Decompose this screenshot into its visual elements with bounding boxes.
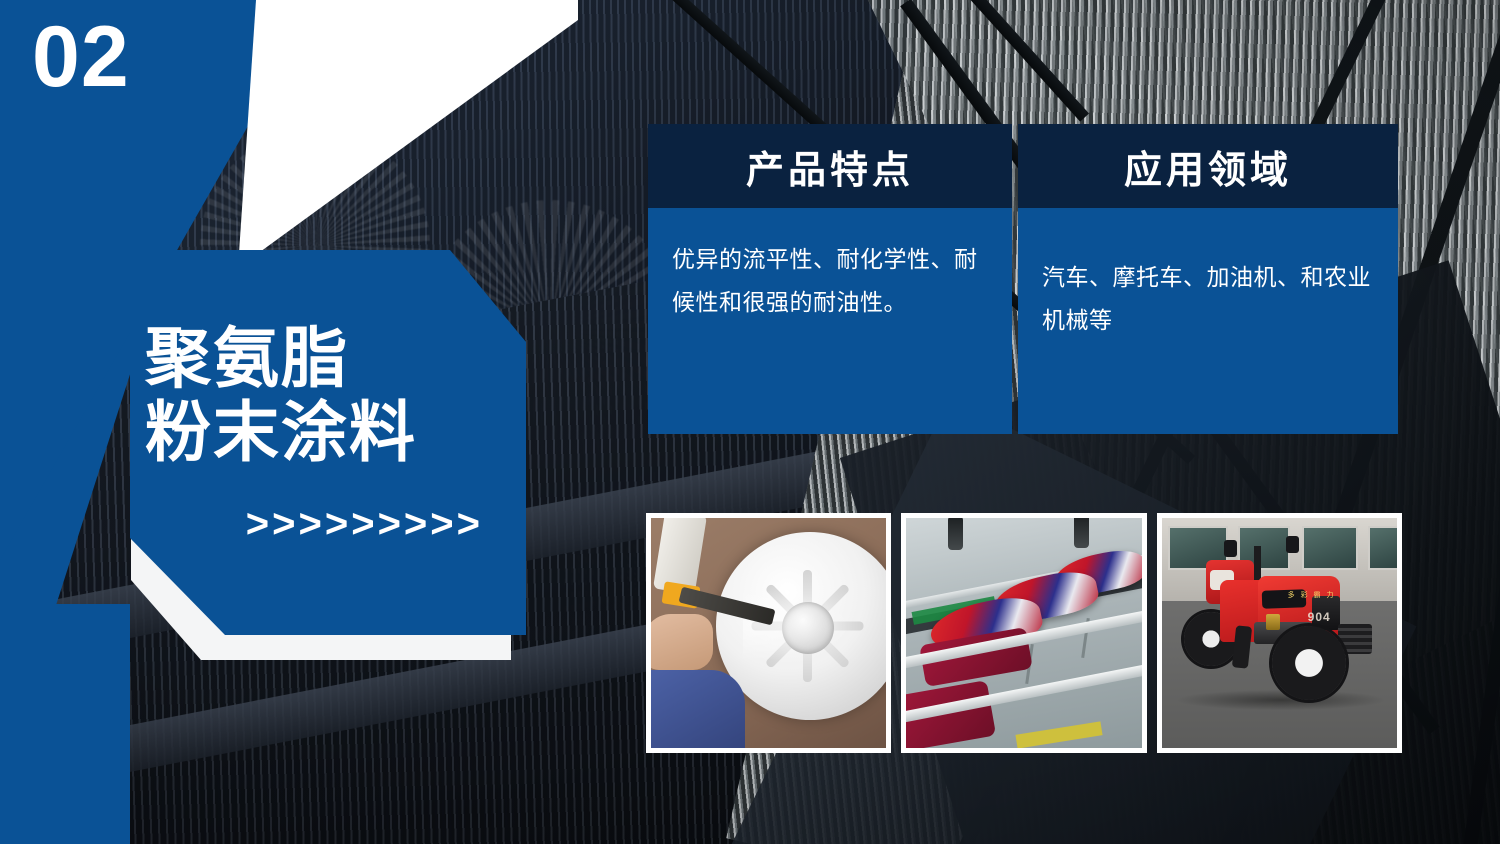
photo-coating-line-fuel-tanks <box>901 513 1146 753</box>
page-title: 聚氨脂 粉末涂料 <box>145 322 485 470</box>
card-features-body: 优异的流平性、耐化学性、耐候性和很强的耐油性。 <box>648 208 1012 434</box>
photo-1-content <box>651 518 886 748</box>
card-application-areas: 应用领域 汽车、摩托车、加油机、和农业机械等 <box>1018 124 1398 434</box>
photo-2-spray-nozzle <box>1074 518 1089 548</box>
photo-3-mirror <box>1224 540 1237 557</box>
photo-3-brass-fitting <box>1266 614 1280 630</box>
card-applications-text: 汽车、摩托车、加油机、和农业机械等 <box>1018 208 1398 341</box>
slide-canvas: 02 聚氨脂 粉末涂料 >>>>>>>>> 产品特点 优异的流平性、耐化学性、耐… <box>0 0 1500 844</box>
card-features-text: 优异的流平性、耐化学性、耐候性和很强的耐油性。 <box>648 208 1012 323</box>
photo-3-content: 多 彩 霸 力 904 <box>1162 518 1397 748</box>
section-number: 02 <box>32 14 130 100</box>
card-applications-body: 汽车、摩托车、加油机、和农业机械等 <box>1018 208 1398 434</box>
photo-3-ground-shadow <box>1178 690 1384 710</box>
photo-red-tractor: 多 彩 霸 力 904 <box>1157 513 1402 753</box>
photo-powder-coating-wheel <box>646 513 891 753</box>
card-product-features: 产品特点 优异的流平性、耐化学性、耐候性和很强的耐油性。 <box>648 124 1012 434</box>
photo-3-model-number: 904 <box>1308 610 1331 624</box>
title-line-1: 聚氨脂 <box>145 322 485 396</box>
card-features-heading: 产品特点 <box>648 124 1012 208</box>
title-badge: 聚氨脂 粉末涂料 >>>>>>>>> <box>105 250 525 660</box>
photo-3-mirror <box>1286 536 1299 553</box>
photo-1-powder-mist <box>743 590 853 660</box>
photo-1-operator-sleeve <box>651 670 745 748</box>
title-line-2: 粉末涂料 <box>145 396 485 470</box>
photo-3-window <box>1368 526 1397 570</box>
photo-2-content <box>906 518 1141 748</box>
card-applications-heading: 应用领域 <box>1018 124 1398 208</box>
photo-3-brand-text: 多 彩 霸 力 <box>1288 590 1336 600</box>
photo-strip: 多 彩 霸 力 904 <box>646 513 1402 753</box>
photo-2-spray-nozzle <box>948 518 963 550</box>
photo-3-window <box>1302 526 1358 570</box>
chevron-arrows-icon: >>>>>>>>> <box>105 502 501 547</box>
photo-3-front-wheel <box>1272 626 1346 700</box>
photo-1-operator-hand <box>651 614 713 670</box>
